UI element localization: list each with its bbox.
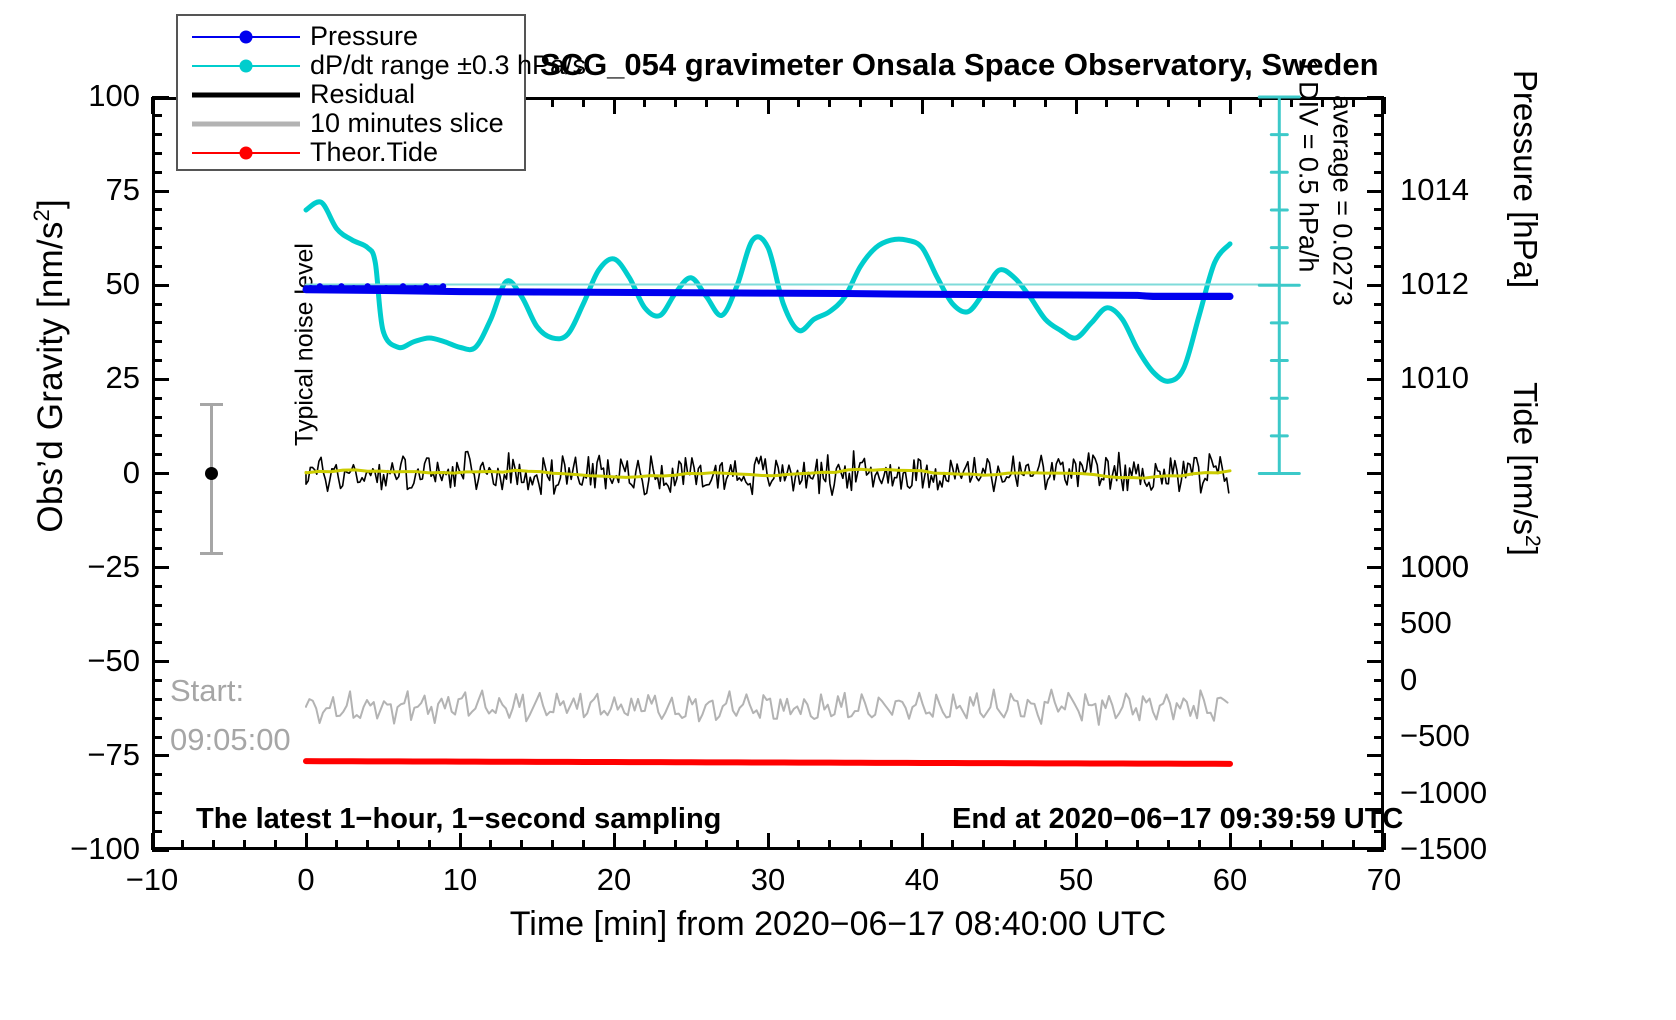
ytick-right-25 bbox=[1367, 378, 1384, 381]
xtick-top-20 bbox=[613, 97, 616, 114]
y-right-tide-label-2: 0 bbox=[1400, 664, 1417, 695]
xtick-bottom-48 bbox=[1044, 840, 1047, 850]
xtick-top-28 bbox=[736, 97, 739, 107]
xtick-top-62 bbox=[1259, 97, 1262, 107]
ytick-left--65 bbox=[152, 717, 162, 720]
ytick-left--75 bbox=[152, 754, 169, 757]
ytick-right-65 bbox=[1374, 227, 1384, 230]
y-right-tide-label-0: 1000 bbox=[1400, 551, 1469, 582]
xtick-top-56 bbox=[1167, 97, 1170, 107]
xtick-bottom-38 bbox=[890, 840, 893, 850]
noise-level-cap-top bbox=[200, 403, 223, 406]
ytick-left--100 bbox=[152, 849, 169, 852]
legend-item-3[interactable]: 10 minutes slice bbox=[178, 109, 524, 138]
legend-item-2[interactable]: Residual bbox=[178, 80, 524, 109]
y-right-tide-label-3: −500 bbox=[1400, 720, 1470, 751]
xtick-bottom--10 bbox=[151, 833, 154, 850]
x-label-0: −10 bbox=[92, 862, 212, 898]
xtick-top-40 bbox=[921, 97, 924, 114]
noise-level-dot bbox=[205, 467, 218, 480]
ytick-right-30 bbox=[1374, 359, 1384, 362]
x-label-3: 20 bbox=[554, 862, 674, 898]
ytick-right-20 bbox=[1374, 397, 1384, 400]
xtick-bottom-12 bbox=[489, 840, 492, 850]
ytick-left-25 bbox=[152, 378, 169, 381]
y-left-label-3: 25 bbox=[5, 362, 140, 393]
y-left-label-0: 100 bbox=[5, 80, 140, 111]
ytick-left-100 bbox=[152, 96, 169, 99]
start-value: 09:05:00 bbox=[170, 722, 291, 758]
ytick-right-85 bbox=[1374, 152, 1384, 155]
y-right-tide-label-1: 500 bbox=[1400, 607, 1452, 638]
average-label: average = 0.0273 bbox=[1327, 51, 1358, 351]
ytick-right--100 bbox=[1367, 849, 1384, 852]
xtick-bottom-18 bbox=[582, 840, 585, 850]
ytick-right--75 bbox=[1367, 754, 1384, 757]
plot-area bbox=[152, 97, 1384, 850]
legend-item-4[interactable]: Theor.Tide bbox=[178, 138, 524, 167]
y-left-label-5: −25 bbox=[5, 551, 140, 582]
xtick-bottom-22 bbox=[643, 840, 646, 850]
ytick-left-65 bbox=[152, 227, 162, 230]
xtick-top-18 bbox=[582, 97, 585, 107]
ytick-left-70 bbox=[152, 208, 162, 211]
ytick-left-20 bbox=[152, 397, 162, 400]
x-label-6: 50 bbox=[1016, 862, 1136, 898]
start-label: Start: bbox=[170, 673, 244, 709]
xtick-bottom-34 bbox=[828, 840, 831, 850]
ytick-left--20 bbox=[152, 547, 162, 550]
y-right-pressure-label-2: 1010 bbox=[1400, 362, 1469, 393]
ytick-right-45 bbox=[1374, 303, 1384, 306]
ytick-left-60 bbox=[152, 246, 162, 249]
ytick-left-10 bbox=[152, 434, 162, 437]
xtick-bottom-4 bbox=[366, 840, 369, 850]
xtick-bottom-46 bbox=[1013, 840, 1016, 850]
ytick-left--70 bbox=[152, 736, 162, 739]
xtick-bottom-8 bbox=[428, 840, 431, 850]
ytick-left--30 bbox=[152, 585, 162, 588]
xtick-top-32 bbox=[797, 97, 800, 107]
xtick-top-42 bbox=[951, 97, 954, 107]
ytick-right-0 bbox=[1367, 472, 1384, 475]
xtick-bottom-64 bbox=[1290, 840, 1293, 850]
legend-label-3: 10 minutes slice bbox=[300, 108, 504, 139]
ytick-right-5 bbox=[1374, 453, 1384, 456]
xtick-bottom--2 bbox=[274, 840, 277, 850]
y-left-label-8: −100 bbox=[5, 833, 140, 864]
chart-root: Obs’d Gravity [nm/s2] Pressure [hPa] Tid… bbox=[0, 0, 1676, 1020]
ytick-left--5 bbox=[152, 491, 162, 494]
xtick-top-44 bbox=[982, 97, 985, 107]
y-left-label-6: −50 bbox=[5, 645, 140, 676]
xtick-bottom--8 bbox=[181, 840, 184, 850]
ytick-right-75 bbox=[1367, 190, 1384, 193]
y-left-label-1: 75 bbox=[5, 174, 140, 205]
xtick-bottom-40 bbox=[921, 833, 924, 850]
ytick-left--15 bbox=[152, 528, 162, 531]
ytick-left--10 bbox=[152, 510, 162, 513]
xtick-top-38 bbox=[890, 97, 893, 107]
y-left-label-7: −75 bbox=[5, 739, 140, 770]
ytick-right--20 bbox=[1374, 547, 1384, 550]
xtick-bottom-42 bbox=[951, 840, 954, 850]
ytick-right--45 bbox=[1374, 641, 1384, 644]
ytick-right--50 bbox=[1367, 660, 1384, 663]
xtick-bottom-44 bbox=[982, 840, 985, 850]
ytick-right-15 bbox=[1374, 416, 1384, 419]
ytick-right-60 bbox=[1374, 246, 1384, 249]
x-label-1: 0 bbox=[246, 862, 366, 898]
xtick-bottom-52 bbox=[1105, 840, 1108, 850]
ytick-right--35 bbox=[1374, 604, 1384, 607]
xtick-bottom--6 bbox=[212, 840, 215, 850]
xtick-bottom-24 bbox=[674, 840, 677, 850]
ytick-left-50 bbox=[152, 284, 169, 287]
ytick-left-0 bbox=[152, 472, 169, 475]
ytick-left-90 bbox=[152, 133, 162, 136]
ytick-right--5 bbox=[1374, 491, 1384, 494]
xtick-top-46 bbox=[1013, 97, 1016, 107]
xtick-top-30 bbox=[767, 97, 770, 114]
legend-swatch-3 bbox=[192, 114, 300, 134]
ytick-right--80 bbox=[1374, 773, 1384, 776]
ytick-right--25 bbox=[1367, 566, 1384, 569]
ytick-right-55 bbox=[1374, 265, 1384, 268]
y-left-label-4: 0 bbox=[5, 457, 140, 488]
legend-label-2: Residual bbox=[300, 79, 415, 110]
footer-end-time: End at 2020−06−17 09:39:59 UTC bbox=[952, 803, 1403, 836]
ytick-left-80 bbox=[152, 171, 162, 174]
xtick-bottom-66 bbox=[1321, 840, 1324, 850]
ytick-right--10 bbox=[1374, 510, 1384, 513]
chart-title: SCG_054 gravimeter Onsala Space Observat… bbox=[540, 47, 1379, 83]
xtick-top-34 bbox=[828, 97, 831, 107]
ytick-left--40 bbox=[152, 623, 162, 626]
ytick-left--55 bbox=[152, 679, 162, 682]
xtick-top-16 bbox=[551, 97, 554, 107]
y-right-pressure-label-1: 1012 bbox=[1400, 268, 1469, 299]
ytick-left-55 bbox=[152, 265, 162, 268]
xtick-top-52 bbox=[1105, 97, 1108, 107]
ytick-left--85 bbox=[152, 792, 162, 795]
xtick-bottom-30 bbox=[767, 833, 770, 850]
legend-swatch-4 bbox=[192, 143, 300, 163]
xtick-bottom--4 bbox=[243, 840, 246, 850]
x-label-4: 30 bbox=[708, 862, 828, 898]
xtick-top-48 bbox=[1044, 97, 1047, 107]
ytick-right-10 bbox=[1374, 434, 1384, 437]
legend-label-0: Pressure bbox=[300, 21, 418, 52]
xtick-bottom-62 bbox=[1259, 840, 1262, 850]
x-label-7: 60 bbox=[1170, 862, 1290, 898]
xtick-bottom-28 bbox=[736, 840, 739, 850]
noise-level-cap-bottom bbox=[200, 552, 223, 555]
x-label-8: 70 bbox=[1324, 862, 1444, 898]
legend-swatch-1 bbox=[192, 56, 300, 76]
xtick-top--10 bbox=[151, 97, 154, 114]
ytick-right-50 bbox=[1367, 284, 1384, 287]
ytick-right--65 bbox=[1374, 717, 1384, 720]
ytick-left-85 bbox=[152, 152, 162, 155]
xtick-top-70 bbox=[1383, 97, 1386, 114]
xtick-top-54 bbox=[1136, 97, 1139, 107]
noise-level-label: Typical noise level bbox=[291, 195, 320, 495]
y-right-tide-label-4: −1000 bbox=[1400, 777, 1487, 808]
xtick-bottom-16 bbox=[551, 840, 554, 850]
legend-item-0[interactable]: Pressure bbox=[178, 22, 524, 51]
legend[interactable]: PressuredP/dt range ±0.3 hPa/sResidual10… bbox=[176, 14, 526, 171]
ytick-right--30 bbox=[1374, 585, 1384, 588]
legend-swatch-2 bbox=[192, 85, 300, 105]
xtick-bottom-6 bbox=[397, 840, 400, 850]
ytick-left--25 bbox=[152, 566, 169, 569]
ytick-left-45 bbox=[152, 303, 162, 306]
ytick-left--50 bbox=[152, 660, 169, 663]
y-left-label-2: 50 bbox=[5, 268, 140, 299]
ytick-left-40 bbox=[152, 321, 162, 324]
ytick-right--15 bbox=[1374, 528, 1384, 531]
ytick-left--90 bbox=[152, 811, 162, 814]
xtick-bottom-26 bbox=[705, 840, 708, 850]
xtick-bottom-68 bbox=[1352, 840, 1355, 850]
x-label-5: 40 bbox=[862, 862, 982, 898]
xtick-bottom-56 bbox=[1167, 840, 1170, 850]
ytick-right-70 bbox=[1374, 208, 1384, 211]
legend-swatch-0 bbox=[192, 27, 300, 47]
xtick-bottom-54 bbox=[1136, 840, 1139, 850]
ytick-left--60 bbox=[152, 698, 162, 701]
ytick-left--95 bbox=[152, 830, 162, 833]
legend-item-1[interactable]: dP/dt range ±0.3 hPa/s bbox=[178, 51, 524, 80]
xtick-top-36 bbox=[859, 97, 862, 107]
ytick-right-40 bbox=[1374, 321, 1384, 324]
ytick-left--80 bbox=[152, 773, 162, 776]
xtick-top-26 bbox=[705, 97, 708, 107]
ytick-left--35 bbox=[152, 604, 162, 607]
xtick-top-58 bbox=[1198, 97, 1201, 107]
ytick-right-80 bbox=[1374, 171, 1384, 174]
ytick-left-75 bbox=[152, 190, 169, 193]
y-right-pressure-label-0: 1014 bbox=[1400, 174, 1469, 205]
ytick-right--70 bbox=[1374, 736, 1384, 739]
xtick-top-22 bbox=[643, 97, 646, 107]
ytick-left-95 bbox=[152, 114, 162, 117]
ytick-right-35 bbox=[1374, 340, 1384, 343]
xtick-bottom-58 bbox=[1198, 840, 1201, 850]
footer-sampling-note: The latest 1−hour, 1−second sampling bbox=[196, 803, 721, 836]
ytick-right--60 bbox=[1374, 698, 1384, 701]
xtick-top-50 bbox=[1075, 97, 1078, 114]
ytick-left-35 bbox=[152, 340, 162, 343]
xtick-top-24 bbox=[674, 97, 677, 107]
ytick-right--85 bbox=[1374, 792, 1384, 795]
xtick-top-60 bbox=[1229, 97, 1232, 114]
xtick-bottom-32 bbox=[797, 840, 800, 850]
xtick-bottom-36 bbox=[859, 840, 862, 850]
legend-label-1: dP/dt range ±0.3 hPa/s bbox=[300, 50, 586, 81]
ytick-right-95 bbox=[1374, 114, 1384, 117]
ytick-left-30 bbox=[152, 359, 162, 362]
ytick-left-5 bbox=[152, 453, 162, 456]
ytick-right--55 bbox=[1374, 679, 1384, 682]
ytick-right-90 bbox=[1374, 133, 1384, 136]
legend-label-4: Theor.Tide bbox=[300, 137, 438, 168]
xtick-bottom-14 bbox=[520, 840, 523, 850]
ytick-right-100 bbox=[1367, 96, 1384, 99]
ytick-left-15 bbox=[152, 416, 162, 419]
xtick-bottom-2 bbox=[335, 840, 338, 850]
y-right-tide-label-5: −1500 bbox=[1400, 833, 1487, 864]
x-label-2: 10 bbox=[400, 862, 520, 898]
ytick-left--45 bbox=[152, 641, 162, 644]
ytick-right--40 bbox=[1374, 623, 1384, 626]
